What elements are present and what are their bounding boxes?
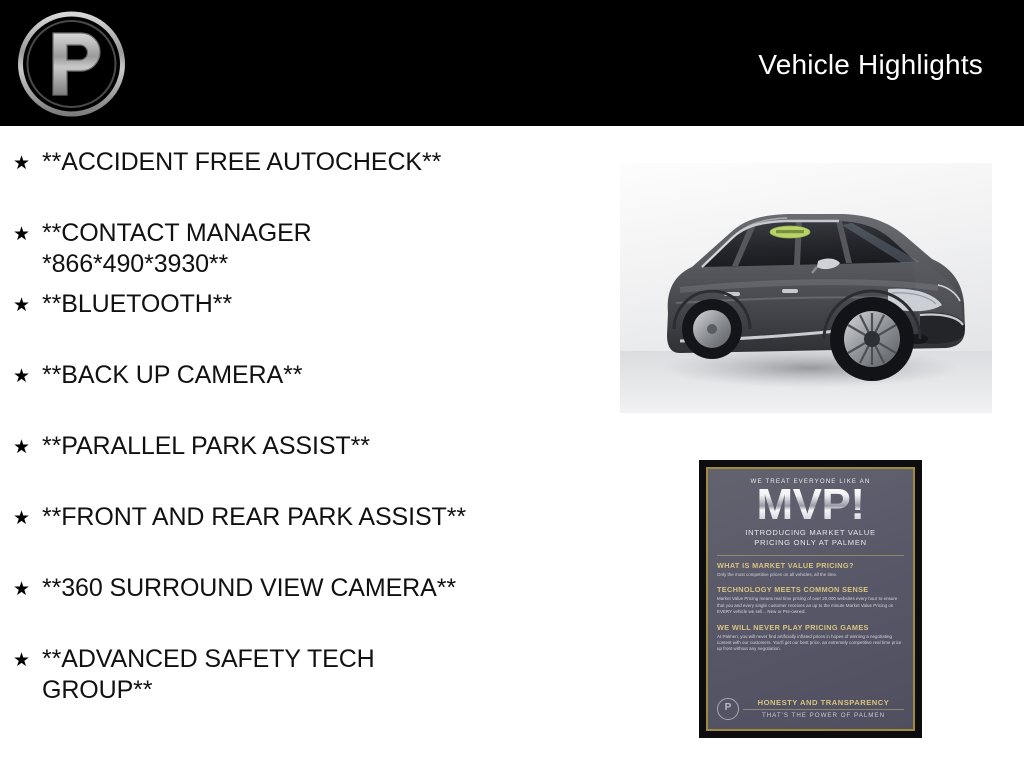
mvp-section-body: At Palmen, you will never find artificia…: [717, 634, 904, 653]
mvp-section-heading: TECHNOLOGY MEETS COMMON SENSE: [717, 585, 904, 594]
mvp-section-heading: WHAT IS MARKET VALUE PRICING?: [717, 561, 904, 570]
star-bullet-icon: ★: [13, 295, 30, 317]
mvp-footer-line-2: THAT'S THE POWER OF PALMEN: [743, 712, 904, 719]
list-item-label: **ACCIDENT FREE AUTOCHECK**: [42, 140, 620, 178]
list-item-label: **360 SURROUND VIEW CAMERA**: [42, 566, 620, 604]
list-item: ★ **CONTACT MANAGER *866*490*3930**: [0, 211, 620, 282]
list-item-label: **FRONT AND REAR PARK ASSIST**: [42, 495, 620, 533]
mvp-poster-panel: WE TREAT EVERYONE LIKE AN MVP! INTRODUCI…: [706, 467, 915, 731]
list-item: ★ **ACCIDENT FREE AUTOCHECK**: [0, 140, 620, 211]
list-item-label: **BLUETOOTH**: [42, 282, 620, 320]
list-item-label: **BACK UP CAMERA**: [42, 353, 620, 391]
list-item-label: **ADVANCED SAFETY TECH GROUP**: [42, 637, 620, 706]
list-item: ★ **ADVANCED SAFETY TECH GROUP**: [0, 637, 620, 708]
palmen-p-logo-icon: [13, 7, 130, 121]
page-title: Vehicle Highlights: [758, 49, 983, 81]
divider: [717, 555, 904, 556]
star-bullet-icon: ★: [13, 650, 30, 672]
mvp-pricing-poster[interactable]: WE TREAT EVERYONE LIKE AN MVP! INTRODUCI…: [699, 460, 922, 738]
mvp-title: MVP!: [717, 483, 904, 527]
mvp-subtitle: INTRODUCING MARKET VALUE PRICING ONLY AT…: [717, 528, 904, 548]
mvp-footer-text: HONESTY AND TRANSPARENCY THAT'S THE POWE…: [743, 695, 904, 719]
mvp-section-heading: WE WILL NEVER PLAY PRICING GAMES: [717, 623, 904, 632]
list-item: ★ **BACK UP CAMERA**: [0, 353, 620, 424]
star-bullet-icon: ★: [13, 579, 30, 601]
star-bullet-icon: ★: [13, 508, 30, 530]
page-header: Vehicle Highlights: [0, 0, 1024, 126]
star-bullet-icon: ★: [13, 437, 30, 459]
star-bullet-icon: ★: [13, 153, 30, 175]
list-item: ★ **PARALLEL PARK ASSIST**: [0, 424, 620, 495]
mvp-footer-line-1: HONESTY AND TRANSPARENCY: [743, 695, 904, 707]
mvp-section: WE WILL NEVER PLAY PRICING GAMES At Palm…: [717, 623, 904, 653]
mvp-section: WHAT IS MARKET VALUE PRICING? Only the m…: [717, 561, 904, 578]
vehicle-highlights-list: ★ **ACCIDENT FREE AUTOCHECK** ★ **CONTAC…: [0, 140, 620, 708]
mvp-section: TECHNOLOGY MEETS COMMON SENSE Market Val…: [717, 585, 904, 615]
palmen-p-logo-icon: P: [717, 698, 739, 720]
list-item-label: **CONTACT MANAGER *866*490*3930**: [42, 211, 620, 280]
list-item-label: **PARALLEL PARK ASSIST**: [42, 424, 620, 462]
star-bullet-icon: ★: [13, 366, 30, 388]
vehicle-photo[interactable]: [620, 163, 992, 413]
mvp-section-body: Only the most competitive prices on all …: [717, 572, 904, 578]
star-bullet-icon: ★: [13, 224, 30, 246]
divider: [743, 709, 904, 710]
list-item: ★ **BLUETOOTH**: [0, 282, 620, 353]
mvp-section-body: Market Value Pricing means real time pri…: [717, 596, 904, 615]
list-item: ★ **360 SURROUND VIEW CAMERA**: [0, 566, 620, 637]
list-item: ★ **FRONT AND REAR PARK ASSIST**: [0, 495, 620, 566]
mvp-footer: P HONESTY AND TRANSPARENCY THAT'S THE PO…: [717, 695, 904, 723]
